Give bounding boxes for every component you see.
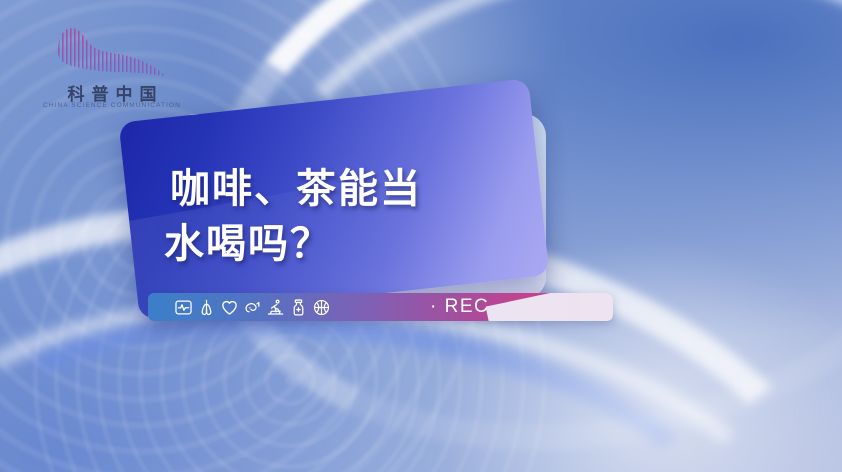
bottom-status-bar: · REC	[148, 293, 613, 321]
stomach-icon	[243, 298, 262, 317]
title-card-stage: 科普中国 CHINA SCIENCE COMMUNICATION 咖啡、茶能当 …	[0, 0, 842, 472]
treadmill-icon	[266, 298, 285, 317]
heart-icon	[220, 298, 239, 317]
lungs-icon	[197, 298, 216, 317]
rec-indicator-label: · REC	[430, 296, 489, 318]
medicine-bottle-icon	[289, 298, 308, 317]
bar-white-wedge	[486, 293, 613, 321]
basketball-icon	[312, 298, 331, 317]
page-title-line-1: 咖啡、茶能当	[170, 162, 530, 217]
feather-wing-icon	[50, 22, 170, 78]
page-title-line-2: 水喝吗？	[164, 217, 530, 272]
brand-name-en: CHINA SCIENCE COMMUNICATION	[42, 102, 182, 109]
ecg-monitor-icon	[174, 298, 193, 317]
health-icon-row	[174, 298, 331, 317]
brand-logo: 科普中国 CHINA SCIENCE COMMUNICATION	[42, 22, 182, 118]
page-title: 咖啡、茶能当 水喝吗？	[170, 162, 530, 272]
